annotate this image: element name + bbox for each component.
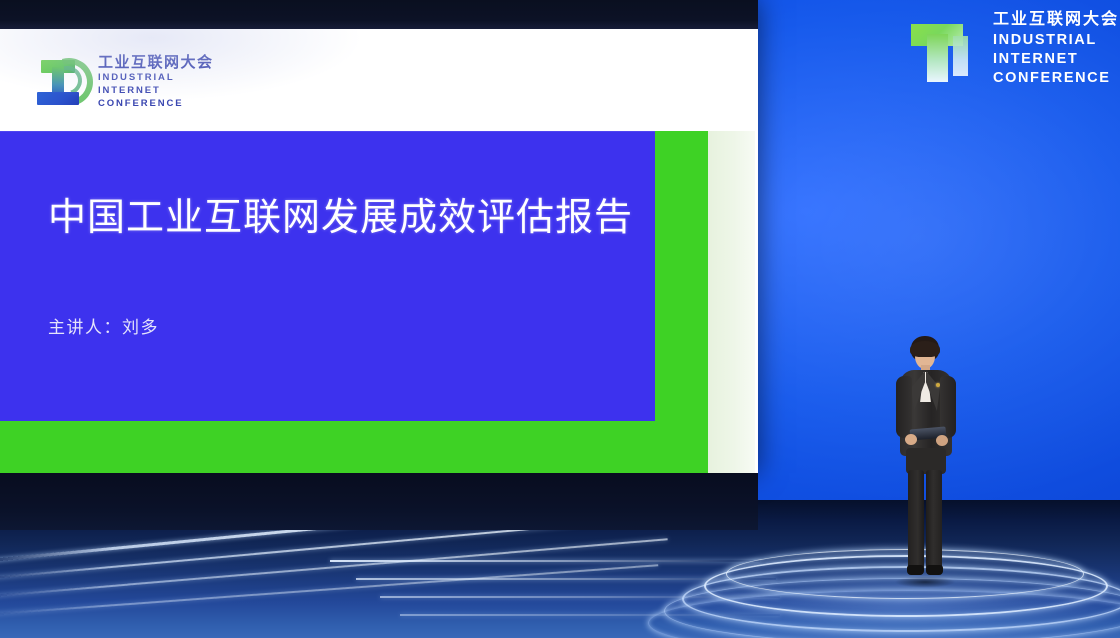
slide-content: 工业互联网大会 INDUSTRIAL INTERNET CONFERENCE 中…: [0, 29, 758, 473]
slide-logo-en-1: INDUSTRIAL: [98, 71, 214, 84]
slide-logo-text: 工业互联网大会 INDUSTRIAL INTERNET CONFERENCE: [98, 54, 214, 111]
presenter-shoe-left: [907, 565, 924, 575]
screen-bezel: [0, 0, 758, 29]
event-logo-text: 工业互联网大会 INDUSTRIAL INTERNET CONFERENCE: [993, 10, 1119, 88]
event-logo-cn: 工业互联网大会: [993, 10, 1119, 31]
event-logo-en-1: INDUSTRIAL: [993, 31, 1119, 50]
slide-title-panel: 中国工业互联网发展成效评估报告 主讲人：刘多: [0, 131, 655, 421]
event-logo-en-2: INTERNET: [993, 50, 1119, 69]
presenter-shoe-right: [926, 565, 943, 575]
presenter-hand-right: [936, 435, 948, 446]
conference-logo-icon: [27, 52, 89, 112]
slide-logo-en-3: CONFERENCE: [98, 97, 214, 110]
slide-title: 中国工业互联网发展成效评估报告: [48, 186, 633, 241]
presenter-hand-left: [905, 434, 917, 445]
event-logo-icon: [905, 10, 981, 88]
slide-header: 工业互联网大会 INDUSTRIAL INTERNET CONFERENCE: [0, 29, 758, 131]
presenter-arm-left: [896, 376, 912, 438]
event-logo: 工业互联网大会 INDUSTRIAL INTERNET CONFERENCE: [905, 10, 1119, 88]
presenter-leg-right: [926, 470, 942, 568]
presentation-screen: 工业互联网大会 INDUSTRIAL INTERNET CONFERENCE 中…: [0, 0, 758, 473]
slide-pale-band-vertical: [708, 131, 755, 473]
presenter-shadow: [884, 574, 966, 590]
presenter-hair-front: [910, 341, 940, 357]
floor-light-ray: [330, 560, 760, 562]
slide-logo-lockup: 工业互联网大会 INDUSTRIAL INTERNET CONFERENCE: [27, 52, 214, 112]
event-logo-en-3: CONFERENCE: [993, 69, 1119, 88]
presenter-figure: [878, 336, 970, 588]
slide-speaker: 主讲人：刘多: [48, 313, 159, 338]
slide-green-band-horizontal: [0, 421, 708, 473]
stage-scene: 工业互联网大会 INDUSTRIAL INTERNET CONFERENCE 中…: [0, 0, 1120, 638]
slide-logo-en-2: INTERNET: [98, 84, 214, 97]
presenter-leg-left: [908, 470, 924, 568]
under-screen-shadow: [0, 473, 758, 530]
slide-right-margin: [755, 29, 758, 473]
slide-logo-cn: 工业互联网大会: [98, 54, 214, 71]
